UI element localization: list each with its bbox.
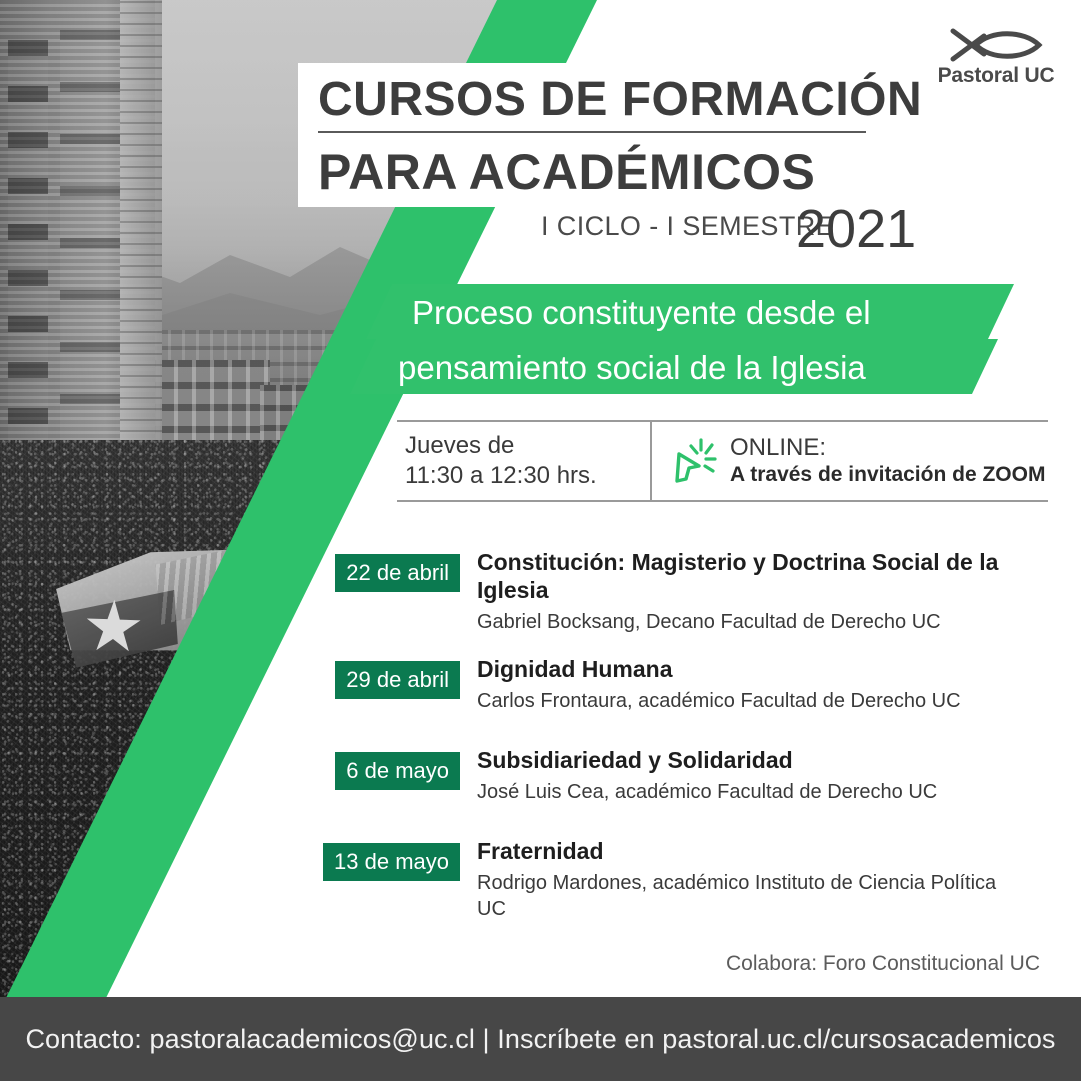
course-title: Constitución: Magisterio y Doctrina Soci… xyxy=(477,548,1022,604)
course-date-badge: 6 de mayo xyxy=(335,752,460,790)
schedule-mode-block: ONLINE: A través de invitación de ZOOM xyxy=(652,422,1048,500)
course-speaker: Carlos Frontaura, académico Facultad de … xyxy=(477,688,1022,714)
course-row: 29 de abril Dignidad Humana Carlos Front… xyxy=(0,655,1081,746)
page-title-line-2: PARA ACADÉMICOS xyxy=(318,143,815,201)
footer-contact-text[interactable]: Contacto: pastoralacademicos@uc.cl | Ins… xyxy=(25,1024,1055,1055)
course-details: Constitución: Magisterio y Doctrina Soci… xyxy=(477,548,1022,635)
course-date-badge: 22 de abril xyxy=(335,554,460,592)
course-details: Fraternidad Rodrigo Mardones, académico … xyxy=(477,837,1022,922)
course-date-badge: 13 de mayo xyxy=(323,843,460,881)
schedule-online-text: ONLINE: A través de invitación de ZOOM xyxy=(730,434,1045,488)
fish-ichthys-icon xyxy=(946,28,1046,62)
online-label: ONLINE: xyxy=(730,434,1045,462)
course-date-badge: 29 de abril xyxy=(335,661,460,699)
course-list: 22 de abril Constitución: Magisterio y D… xyxy=(0,548,1081,907)
click-cursor-icon xyxy=(668,435,720,487)
course-speaker: José Luis Cea, académico Facultad de Der… xyxy=(477,779,1022,805)
banner-title-line-2: pensamiento social de la Iglesia xyxy=(398,340,998,395)
schedule-time-block: Jueves de 11:30 a 12:30 hrs. xyxy=(397,422,652,500)
course-title: Fraternidad xyxy=(477,837,1022,865)
course-row: 13 de mayo Fraternidad Rodrigo Mardones,… xyxy=(0,837,1081,907)
course-details: Subsidiariedad y Solidaridad José Luis C… xyxy=(477,746,1022,805)
course-title: Dignidad Humana xyxy=(477,655,1022,683)
online-detail: A través de invitación de ZOOM xyxy=(730,462,1045,488)
cycle-semester-label: I CICLO - I SEMESTRE xyxy=(541,211,834,242)
banner-title-line-1: Proceso constituyente desde el xyxy=(412,285,1012,340)
course-title: Subsidiariedad y Solidaridad xyxy=(477,746,1022,774)
year-label: 2021 xyxy=(796,198,916,260)
schedule-day: Jueves de xyxy=(405,431,650,461)
schedule-info-box: Jueves de 11:30 a 12:30 hrs. ONLINE: A t… xyxy=(397,420,1048,502)
schedule-time: 11:30 a 12:30 hrs. xyxy=(405,461,650,491)
course-speaker: Gabriel Bocksang, Decano Facultad de Der… xyxy=(477,609,1022,635)
footer-contact-bar: Contacto: pastoralacademicos@uc.cl | Ins… xyxy=(0,997,1081,1081)
collaborator-label: Colabora: Foro Constitucional UC xyxy=(0,952,1040,976)
course-row: 6 de mayo Subsidiariedad y Solidaridad J… xyxy=(0,746,1081,837)
course-speaker: Rodrigo Mardones, académico Instituto de… xyxy=(477,870,1022,922)
course-row: 22 de abril Constitución: Magisterio y D… xyxy=(0,548,1081,655)
course-details: Dignidad Humana Carlos Frontaura, académ… xyxy=(477,655,1022,714)
logo-text: Pastoral UC xyxy=(930,64,1062,88)
course-theme-banner: Proceso constituyente desde el pensamien… xyxy=(350,284,1030,394)
pastoral-uc-logo: Pastoral UC xyxy=(930,28,1062,86)
title-divider-rule xyxy=(318,131,866,133)
poster: CURSOS DE FORMACIÓN PARA ACADÉMICOS I CI… xyxy=(0,0,1081,1081)
page-title-line-1: CURSOS DE FORMACIÓN xyxy=(318,72,922,127)
